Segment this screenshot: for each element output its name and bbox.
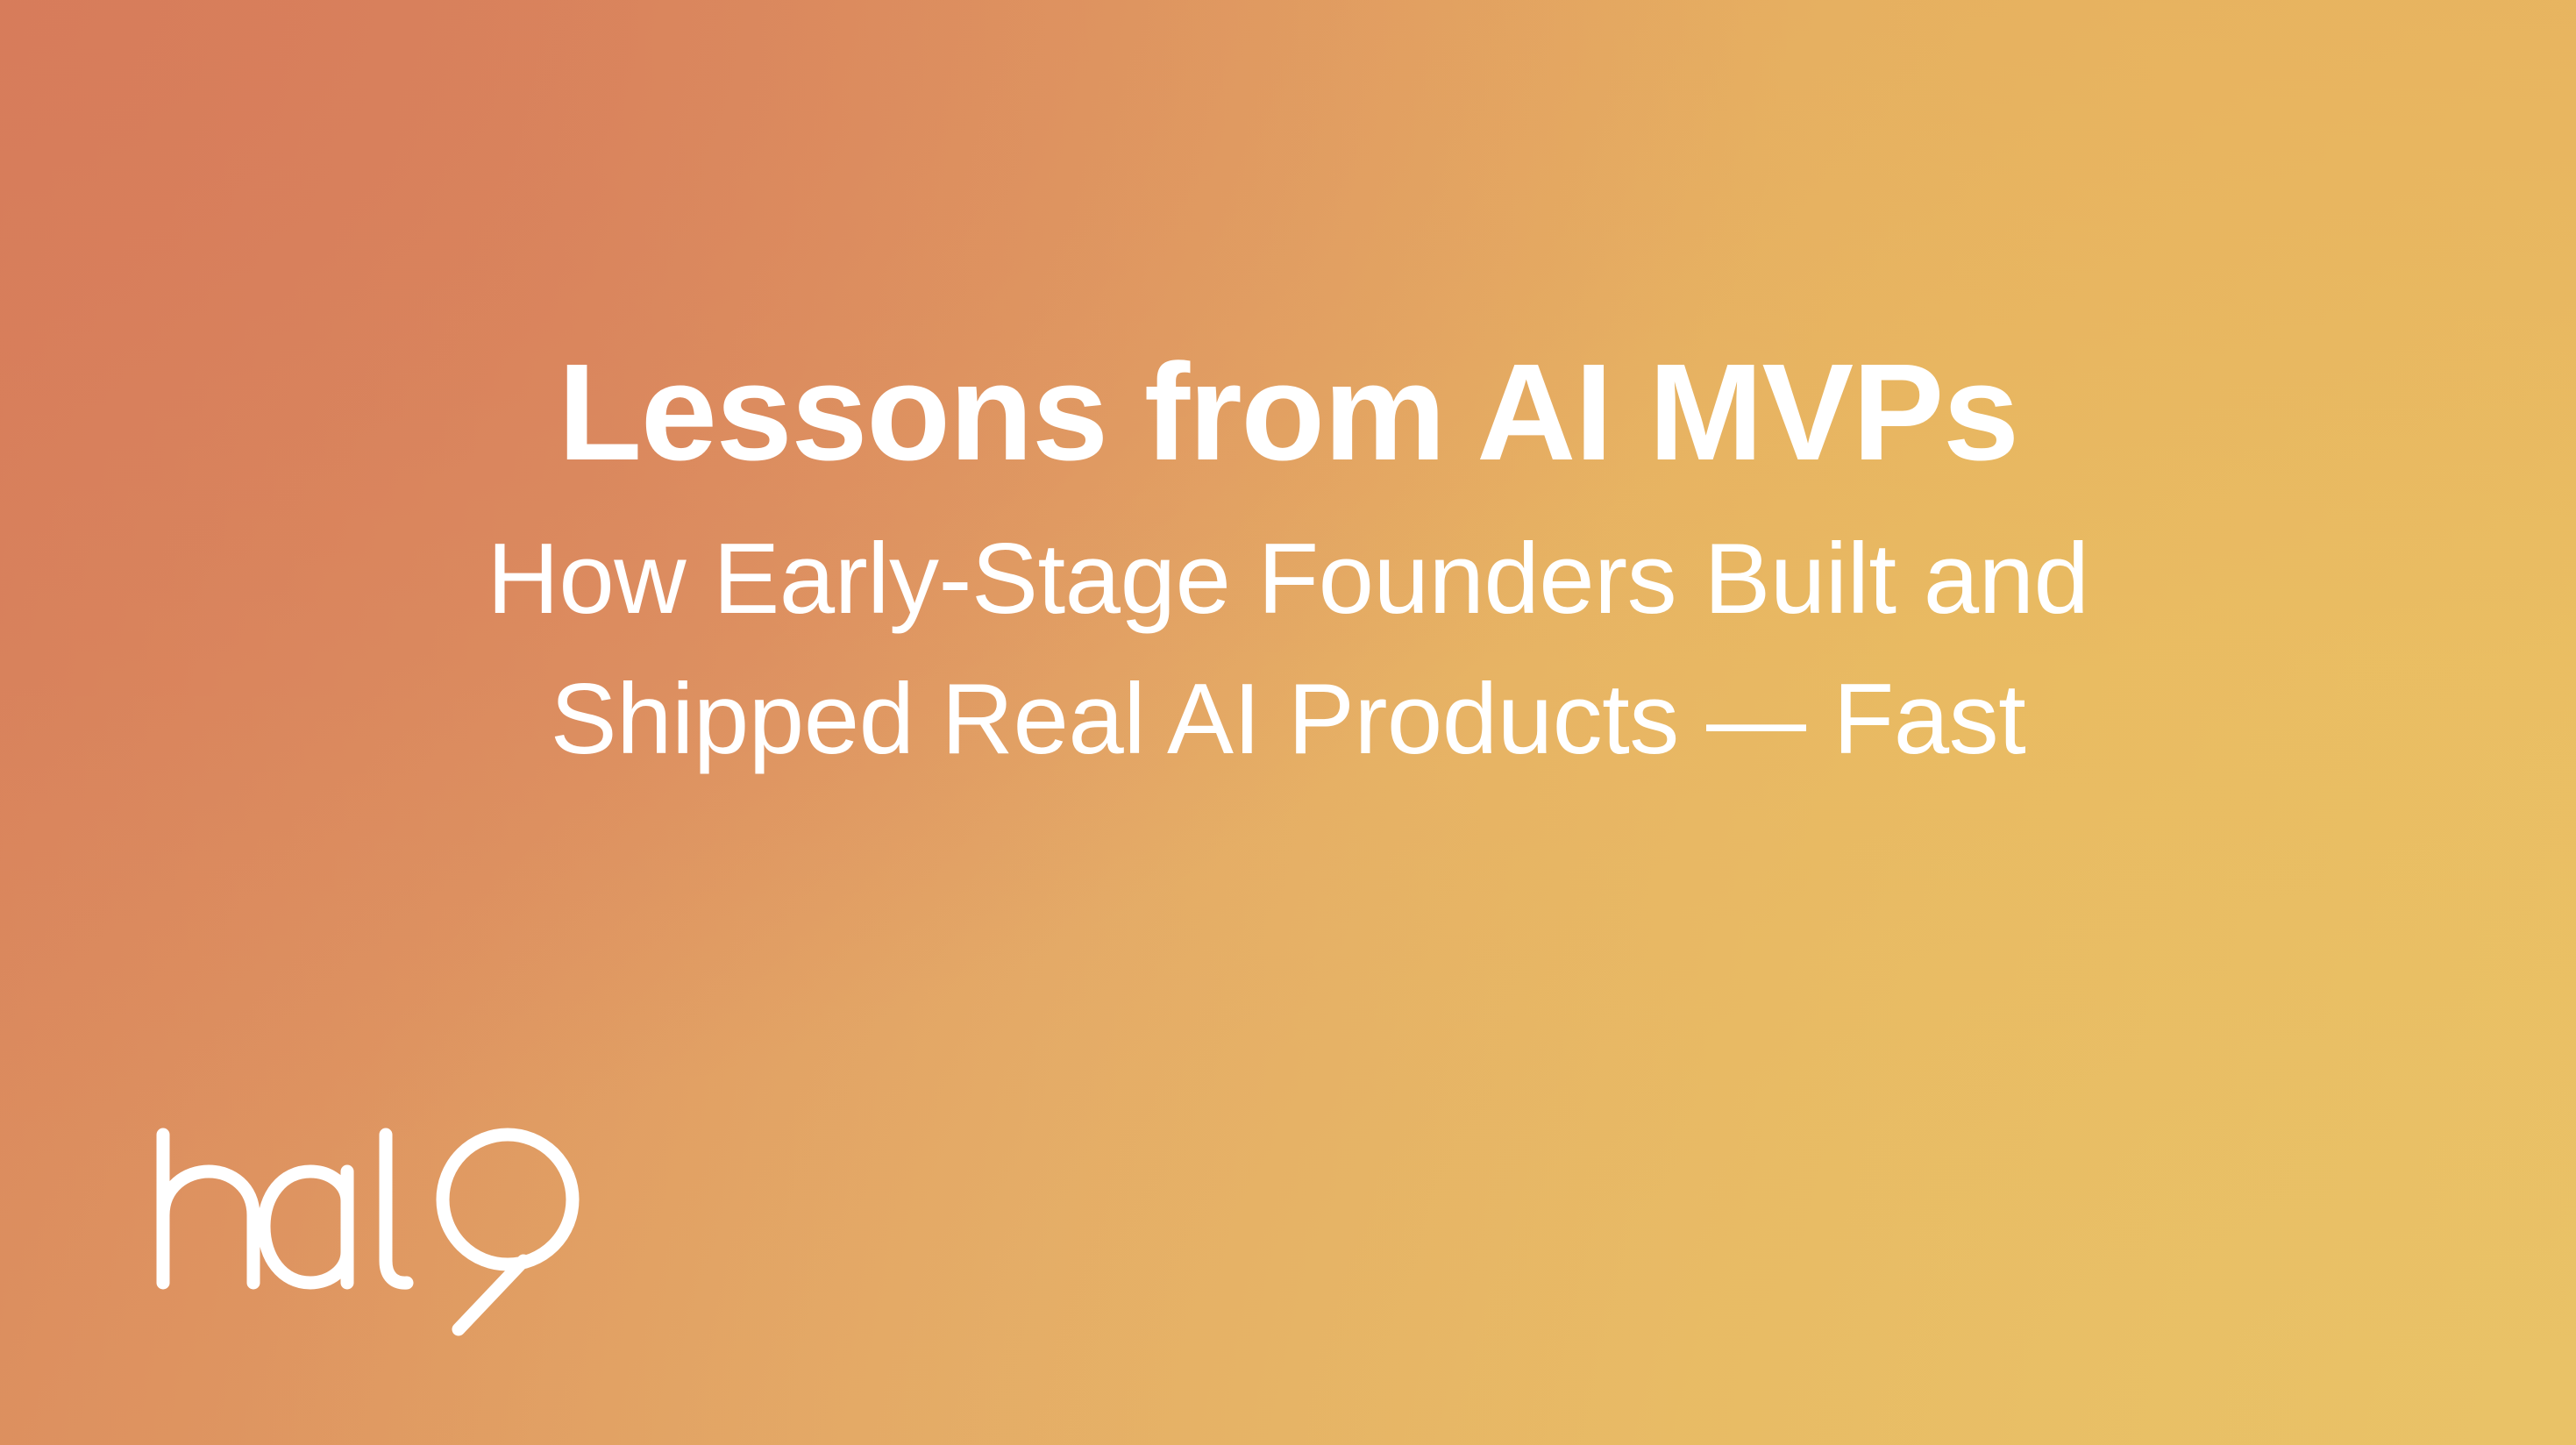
hal9-logo-icon [147,1103,621,1340]
slide-text-block: Lessons from AI MVPs How Early-Stage Fou… [0,344,2576,789]
slide-subtitle: How Early-Stage Founders Built and Shipp… [123,509,2453,789]
slide-subtitle-line-2: Shipped Real AI Products — Fast [123,650,2453,790]
hal9-logo [147,1103,621,1340]
presentation-slide: Lessons from AI MVPs How Early-Stage Fou… [0,0,2576,1445]
slide-subtitle-line-1: How Early-Stage Founders Built and [123,509,2453,650]
page-title: Lessons from AI MVPs [123,344,2453,481]
